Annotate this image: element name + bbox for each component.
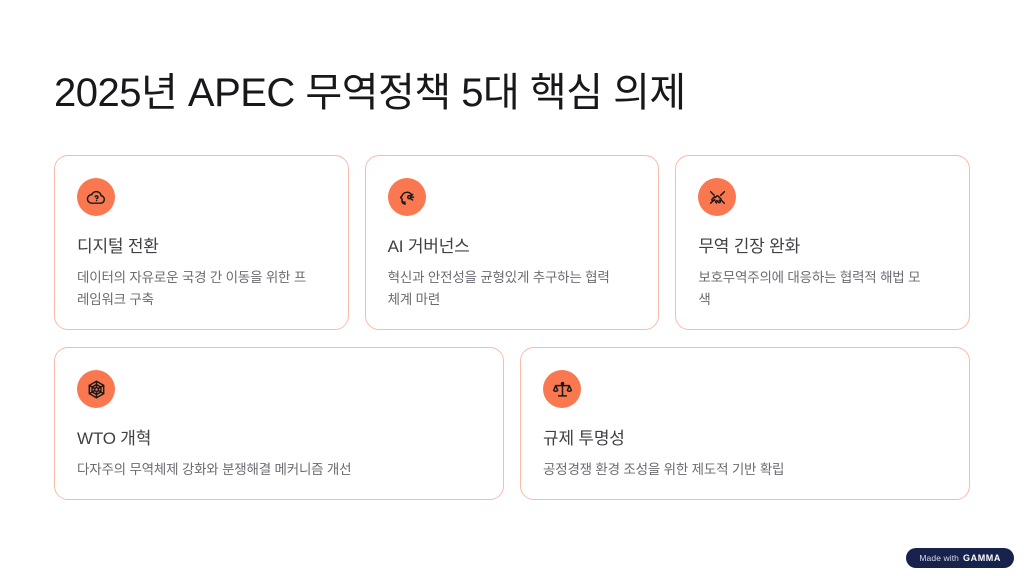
gamma-brand-label: GAMMA [963, 553, 1001, 563]
card-title: AI 거버넌스 [388, 236, 637, 258]
spider-web-icon [77, 370, 115, 408]
card-description: 보호무역주의에 대응하는 협력적 해법 모색 [698, 267, 930, 311]
head-circuit-icon [388, 178, 426, 216]
card-description: 공정경쟁 환경 조성을 위한 제도적 기반 확립 [543, 459, 947, 481]
cloud-question-icon [77, 178, 115, 216]
card-trade-tension-relief[interactable]: 무역 긴장 완화 보호무역주의에 대응하는 협력적 해법 모색 [675, 155, 970, 330]
card-regulatory-transparency[interactable]: 규제 투명성 공정경쟁 환경 조성을 위한 제도적 기반 확립 [520, 347, 970, 500]
card-grid-bottom-row: WTO 개혁 다자주의 무역체제 강화와 분쟁해결 메커니즘 개선 규제 투명성… [54, 347, 970, 500]
card-description: 데이터의 자유로운 국경 간 이동을 위한 프레임워크 구축 [77, 267, 309, 311]
card-title: 디지털 전환 [77, 236, 326, 258]
card-description: 다자주의 무역체제 강화와 분쟁해결 메커니즘 개선 [77, 459, 481, 481]
card-ai-governance[interactable]: AI 거버넌스 혁신과 안전성을 균형있게 추구하는 협력 체계 마련 [365, 155, 660, 330]
card-grid-top-row: 디지털 전환 데이터의 자유로운 국경 간 이동을 위한 프레임워크 구축 AI… [54, 155, 970, 330]
made-with-gamma-badge[interactable]: Made with GAMMA [906, 548, 1014, 568]
handshake-icon [698, 178, 736, 216]
card-title: 규제 투명성 [543, 428, 947, 450]
page-title: 2025년 APEC 무역정책 5대 핵심 의제 [54, 70, 686, 117]
card-title: 무역 긴장 완화 [698, 236, 947, 258]
card-digital-transformation[interactable]: 디지털 전환 데이터의 자유로운 국경 간 이동을 위한 프레임워크 구축 [54, 155, 349, 330]
card-title: WTO 개혁 [77, 428, 481, 450]
card-description: 혁신과 안전성을 균형있게 추구하는 협력 체계 마련 [388, 267, 620, 311]
scales-balance-icon [543, 370, 581, 408]
made-with-label: Made with [919, 553, 959, 563]
card-wto-reform[interactable]: WTO 개혁 다자주의 무역체제 강화와 분쟁해결 메커니즘 개선 [54, 347, 504, 500]
